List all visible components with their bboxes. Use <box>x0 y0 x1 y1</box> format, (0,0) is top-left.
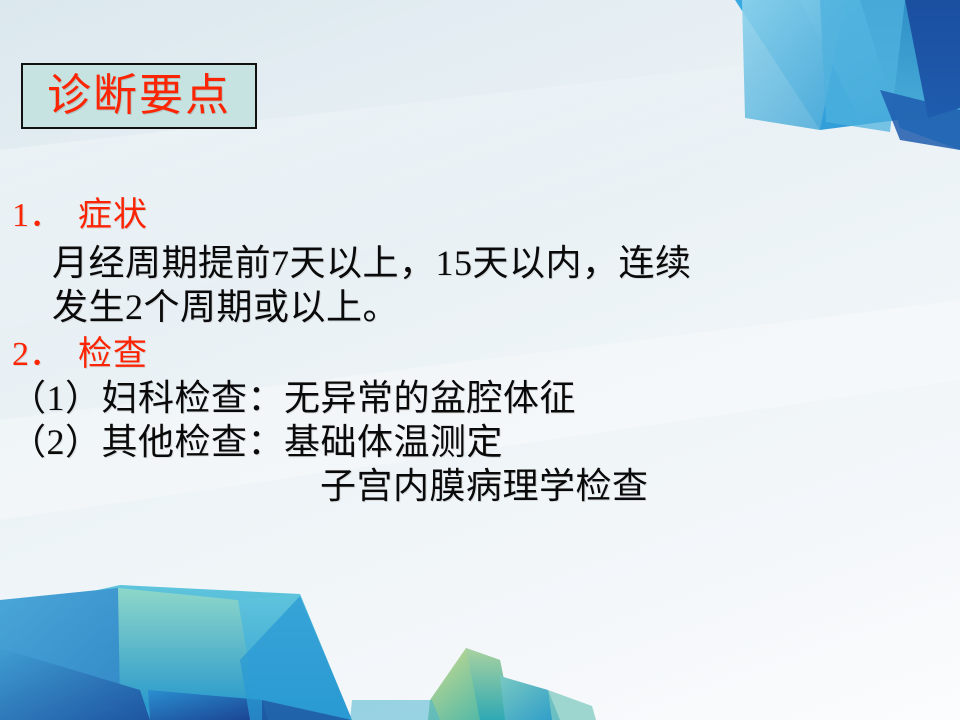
section-marker-separator-1: ． <box>29 197 64 234</box>
slide-canvas: 诊断要点 1．症状 月经周期提前7天以上，15天以内，连续 发生2个周期或以上。… <box>0 0 960 720</box>
section-marker-2: 2 <box>12 336 29 373</box>
section-1-line-1: 月经周期提前7天以上，15天以内，连续 <box>0 243 960 285</box>
section-heading-label-2: 检查 <box>78 336 148 373</box>
page-title: 诊断要点 <box>47 74 231 118</box>
section-1-line-2: 发生2个周期或以上。 <box>0 287 960 329</box>
section-2-line-2: （2）其他检查：基础体温测定 <box>0 422 960 464</box>
section-marker-1: 1 <box>12 197 29 234</box>
section-heading-2: 2．检查 <box>0 335 960 374</box>
section-2-line-1: （1）妇科检查：无异常的盆腔体征 <box>0 378 960 420</box>
slide-title-box: 诊断要点 <box>21 63 257 129</box>
section-heading-1: 1．症状 <box>0 196 960 235</box>
slide-body: 1．症状 月经周期提前7天以上，15天以内，连续 发生2个周期或以上。 2．检查… <box>0 196 960 508</box>
section-marker-separator-2: ． <box>29 336 64 373</box>
section-heading-label-1: 症状 <box>78 197 148 234</box>
section-2-line-3: 子宫内膜病理学检查 <box>0 466 960 508</box>
